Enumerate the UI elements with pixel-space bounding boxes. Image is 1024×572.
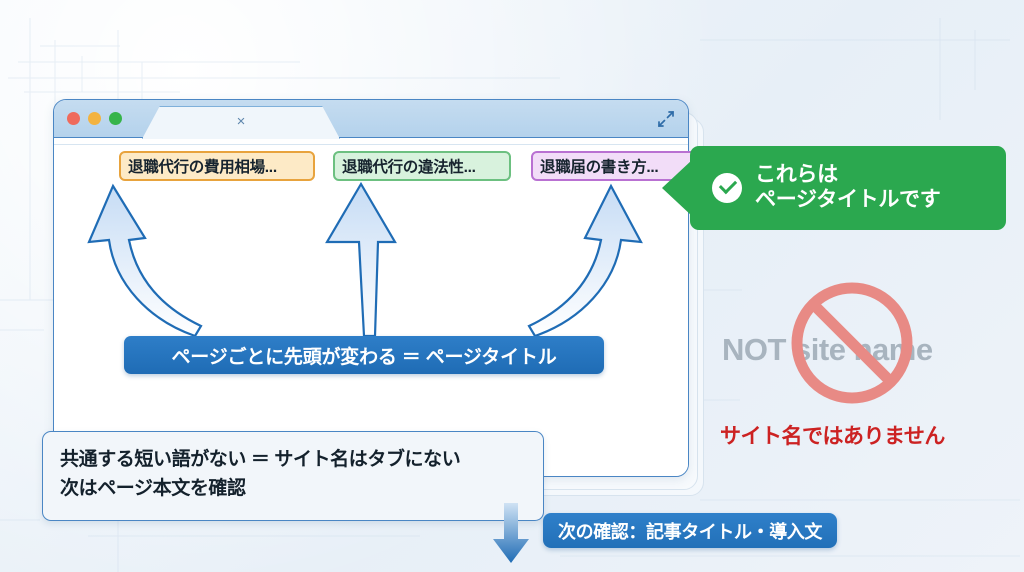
expand-diagonal-icon[interactable]: [656, 109, 676, 129]
prohibition-sign-icon: [788, 279, 916, 407]
maximize-window-dot[interactable]: [109, 112, 122, 125]
these-are-page-titles-callout: これらは ページタイトルです: [662, 146, 1006, 230]
traffic-lights: [67, 112, 122, 125]
next-step-pill: 次の確認：記事タイトル・導入文: [543, 513, 837, 548]
browser-window: ×: [53, 99, 689, 477]
active-browser-tab[interactable]: ×: [142, 106, 340, 139]
conclusion-line-2: 次はページ本文を確認: [60, 474, 543, 503]
close-window-dot[interactable]: [67, 112, 80, 125]
browser-viewport: [54, 144, 688, 477]
callout-line-1: これらは: [755, 163, 838, 186]
conclusion-callout: 共通する短い語がない ＝ サイト名はタブにない 次はページ本文を確認: [42, 431, 544, 521]
browser-titlebar: ×: [54, 100, 688, 138]
check-circle-icon: [712, 173, 742, 203]
conclusion-line-1: 共通する短い語がない ＝ サイト名はタブにない: [60, 445, 543, 474]
close-icon[interactable]: ×: [143, 114, 339, 129]
minimize-window-dot[interactable]: [88, 112, 101, 125]
callout-line-2: ページタイトルです: [755, 188, 940, 211]
arrow-down-icon: [492, 503, 530, 565]
not-site-name-note: サイト名ではありません: [720, 420, 945, 450]
page-title-banner: ページごとに先頭が変わる ＝ ページタイトル: [124, 336, 604, 374]
callout-pointer: [662, 160, 692, 216]
